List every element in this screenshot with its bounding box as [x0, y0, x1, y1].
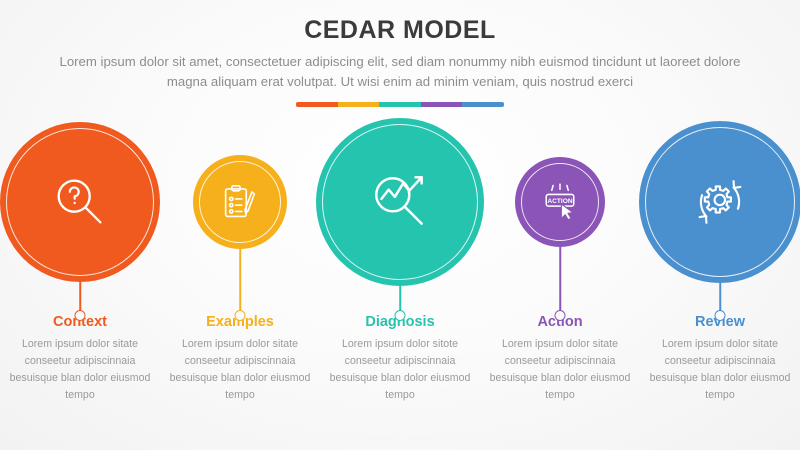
step-column-context[interactable]: Context Lorem ipsum dolor sitate conseet…: [0, 118, 160, 405]
divider-segment-5: [462, 102, 504, 107]
circle-zone-review: [640, 118, 800, 306]
step-bubble-action[interactable]: ACTION: [515, 157, 605, 247]
step-column-examples[interactable]: Examples Lorem ipsum dolor sitate consee…: [160, 118, 320, 405]
step-description-diagnosis: Lorem ipsum dolor sitote conseetur adipi…: [324, 336, 476, 405]
divider-segment-2: [338, 102, 380, 107]
page-subtitle: Lorem ipsum dolor sit amet, consectetuer…: [50, 52, 750, 92]
circle-zone-examples: [160, 118, 320, 306]
circle-zone-diagnosis: [320, 118, 480, 306]
connector-line-review: [719, 283, 721, 312]
divider-segment-3: [379, 102, 421, 107]
step-bubble-examples[interactable]: [193, 155, 287, 249]
action-button-text: ACTION: [547, 198, 573, 205]
step-description-review: Lorem ipsum dolor sitate conseetur adipi…: [644, 336, 796, 405]
clipboard-checklist-pencil-icon: [220, 182, 260, 222]
step-column-review[interactable]: Review Lorem ipsum dolor sitate conseetu…: [640, 118, 800, 405]
gear-refresh-cycle-icon: [689, 171, 751, 233]
step-description-examples: Lorem ipsum dolor sitate conseetur adipi…: [164, 336, 316, 405]
color-divider-bar: [296, 102, 504, 107]
step-description-action: Lorem ipsum dolor sitate conseetur adipi…: [484, 336, 636, 405]
connector-node-action: [555, 310, 566, 321]
steps-container: Context Lorem ipsum dolor sitate conseet…: [0, 118, 800, 448]
step-bubble-review[interactable]: [639, 121, 800, 283]
circle-zone-action: ACTION: [480, 118, 640, 306]
connector-line-examples: [239, 249, 241, 312]
connector-node-diagnosis: [395, 310, 406, 321]
header: CEDAR MODEL Lorem ipsum dolor sit amet, …: [0, 0, 800, 107]
page-title: CEDAR MODEL: [0, 16, 800, 45]
step-column-action[interactable]: ACTION Action Lorem ipsum dolor sitate c…: [480, 118, 640, 405]
connector-node-context: [75, 310, 86, 321]
connector-line-action: [559, 247, 561, 312]
step-description-context: Lorem ipsum dolor sitate conseetur adipi…: [4, 336, 156, 405]
action-button-cursor-icon: ACTION: [538, 180, 582, 224]
step-column-diagnosis[interactable]: Diagnosis Lorem ipsum dolor sitote conse…: [320, 118, 480, 405]
connector-node-review: [715, 310, 726, 321]
connector-node-examples: [235, 310, 246, 321]
magnifier-question-icon: [49, 171, 111, 233]
step-bubble-diagnosis[interactable]: [316, 118, 484, 286]
connector-line-diagnosis: [399, 286, 401, 312]
connector-line-context: [79, 282, 81, 312]
divider-segment-4: [421, 102, 463, 107]
magnifier-chart-analysis-icon: [367, 169, 433, 235]
step-bubble-context[interactable]: [0, 122, 160, 282]
circle-zone-context: [0, 118, 160, 306]
divider-segment-1: [296, 102, 338, 107]
